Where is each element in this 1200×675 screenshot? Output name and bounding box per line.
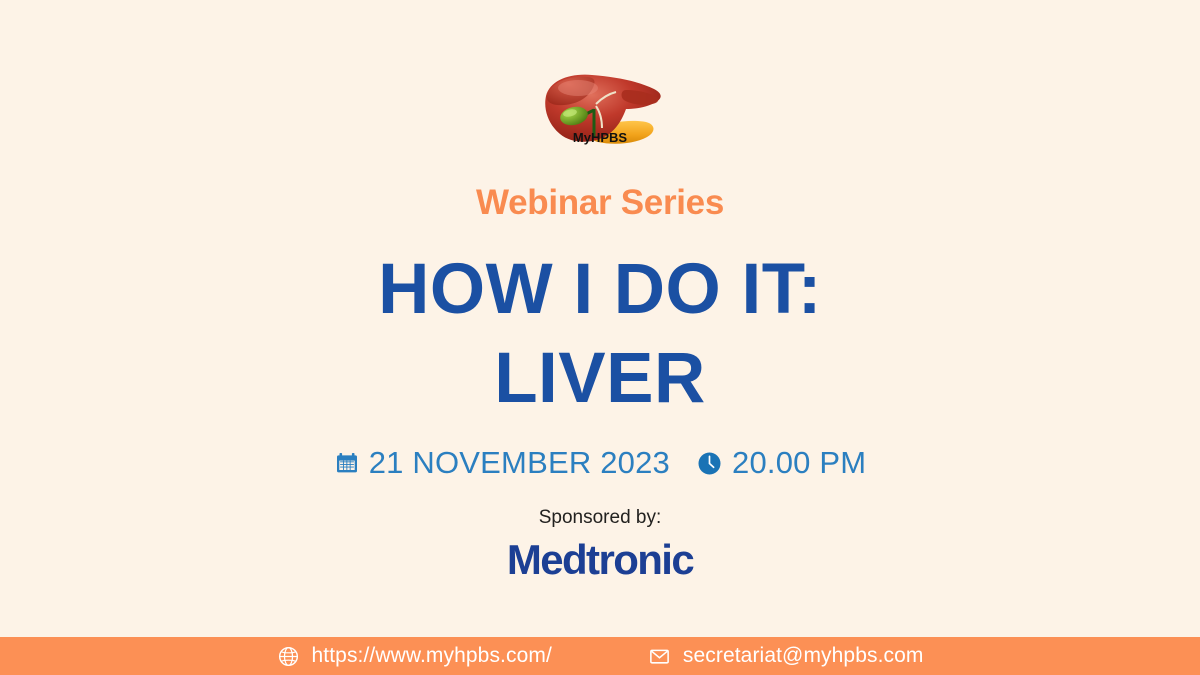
liver-logo-icon: MyHPBS [530,64,670,160]
calendar-icon [334,450,360,476]
myhpbs-logo: MyHPBS [530,64,670,160]
footer-email-text: secretariat@myhpbs.com [683,644,924,668]
footer-website-text: https://www.myhpbs.com/ [312,644,552,668]
eyebrow-webinar-series: Webinar Series [476,184,724,223]
clock-icon [696,450,723,477]
logo-wordmark: MyHPBS [573,130,628,145]
event-time: 20.00 PM [696,445,866,481]
footer-website[interactable]: https://www.myhpbs.com/ [277,644,552,668]
title-line-2: LIVER [378,334,822,423]
event-meta-row: 21 NOVEMBER 2023 20.00 PM [334,445,867,481]
webinar-poster: MyHPBS Webinar Series HOW I DO IT: LIVER [0,0,1200,675]
title-line-1: HOW I DO IT: [378,245,822,334]
event-time-text: 20.00 PM [732,445,866,481]
envelope-icon [648,645,671,668]
footer-email[interactable]: secretariat@myhpbs.com [648,644,924,668]
event-date-text: 21 NOVEMBER 2023 [369,445,670,481]
sponsor-label: Sponsored by: [507,508,693,529]
globe-icon [277,645,300,668]
sponsor-name: Medtronic [507,536,693,584]
sponsor-block: Sponsored by: Medtronic [507,508,693,584]
event-date: 21 NOVEMBER 2023 [334,445,670,481]
contact-footer-bar: https://www.myhpbs.com/ secretariat@myhp… [0,637,1200,675]
page-title: HOW I DO IT: LIVER [378,245,822,424]
